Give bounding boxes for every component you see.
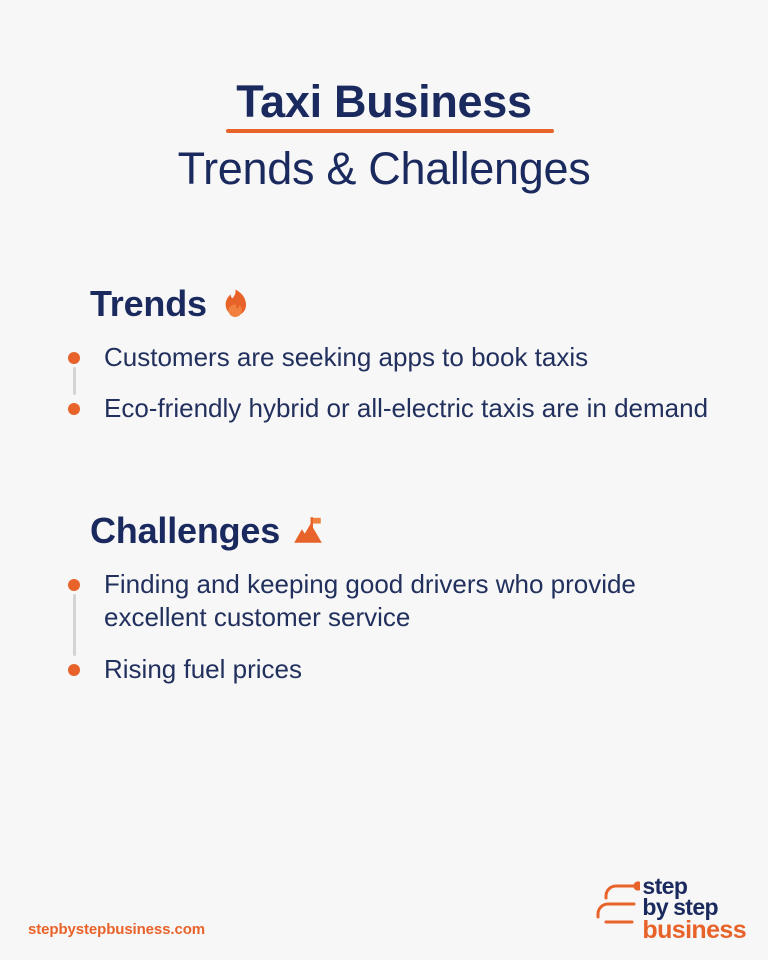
footer-website-url[interactable]: stepbystepbusiness.com — [28, 921, 205, 938]
section-trends: Trends Customers are seeking apps to boo… — [90, 283, 728, 426]
section-challenges-heading-label: Challenges — [90, 510, 280, 552]
logo-wordmark: step by step business — [642, 876, 746, 942]
bullet-text: Rising fuel prices — [104, 653, 728, 686]
title-underline — [226, 129, 553, 133]
section-challenges-heading: Challenges — [90, 510, 728, 552]
section-challenges: Challenges Finding and keeping good driv… — [90, 510, 728, 686]
logo-business-text: business — [642, 919, 746, 942]
list-item: Finding and keeping good drivers who pro… — [90, 568, 728, 635]
list-item: Customers are seeking apps to book taxis — [90, 341, 728, 374]
trends-bullet-list: Customers are seeking apps to book taxis… — [90, 341, 728, 426]
page-title: Taxi Business — [236, 78, 531, 125]
header: Taxi Business Trends & Challenges — [0, 0, 768, 195]
mountain-flag-icon — [291, 514, 325, 548]
challenges-bullet-list: Finding and keeping good drivers who pro… — [90, 568, 728, 686]
brand-logo[interactable]: step by step business — [594, 876, 746, 942]
bullet-text: Finding and keeping good drivers who pro… — [104, 568, 728, 635]
bullet-dot-icon — [68, 664, 80, 676]
sections-container: Trends Customers are seeking apps to boo… — [0, 283, 768, 686]
list-item: Eco-friendly hybrid or all-electric taxi… — [90, 392, 728, 425]
logo-stairs-icon — [594, 877, 640, 942]
fire-icon — [218, 287, 252, 321]
bullet-connector-line — [73, 367, 76, 396]
bullet-dot-icon — [68, 579, 80, 591]
list-item: Rising fuel prices — [90, 653, 728, 686]
bullet-dot-icon — [68, 352, 80, 364]
bullet-text: Eco-friendly hybrid or all-electric taxi… — [104, 392, 728, 425]
page-title-wrap: Taxi Business — [230, 78, 537, 135]
logo-line-3: business — [642, 919, 746, 942]
bullet-connector-line — [73, 594, 76, 656]
section-trends-heading: Trends — [90, 283, 728, 325]
page-subtitle: Trends & Challenges — [0, 144, 768, 194]
bullet-dot-icon — [68, 403, 80, 415]
bullet-text: Customers are seeking apps to book taxis — [104, 341, 728, 374]
section-trends-heading-label: Trends — [90, 283, 207, 325]
